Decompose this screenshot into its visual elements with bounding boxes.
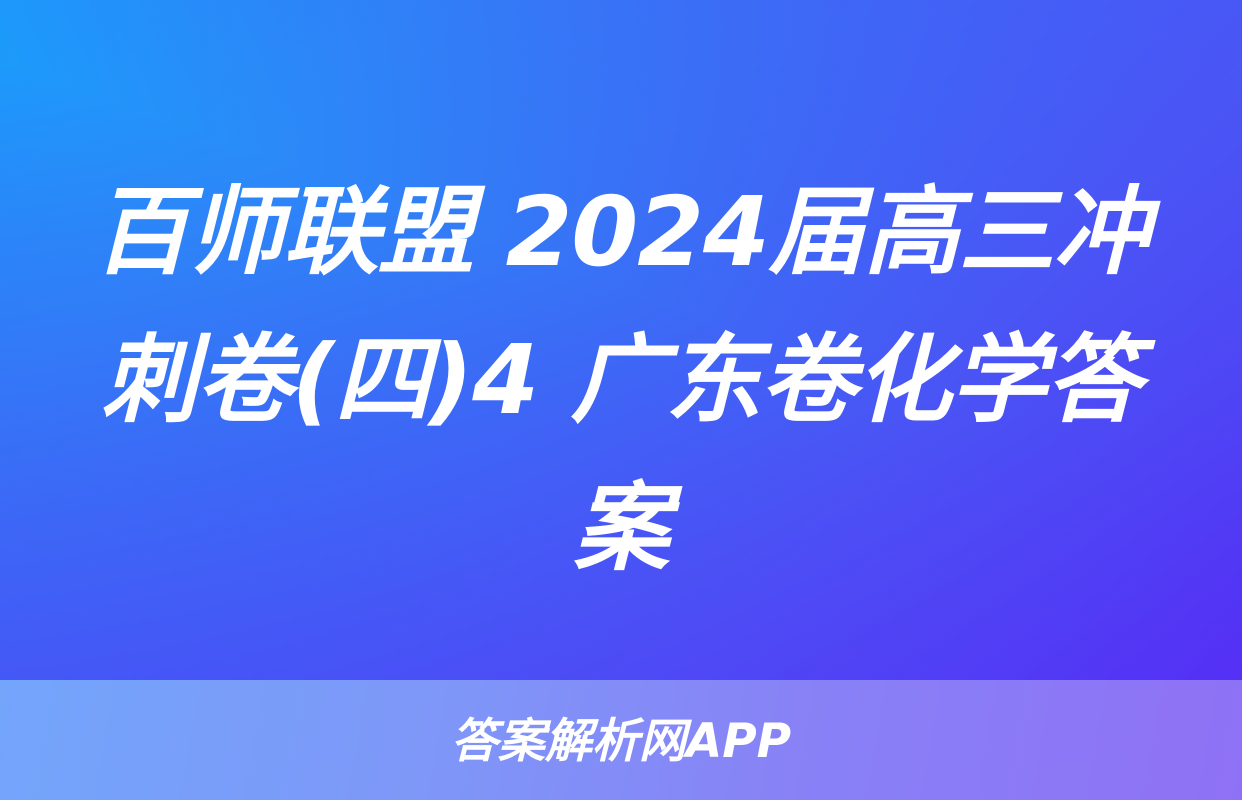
title-line-2: 刺卷(四)4 广东卷化学答 xyxy=(56,306,1186,454)
title-line-1: 百师联盟 2024届高三冲 xyxy=(56,158,1186,306)
watermark-label: 答案解析网APP xyxy=(451,718,791,765)
title-line-3: 案 xyxy=(56,454,1186,602)
footer-watermark-band: 答案解析网APP xyxy=(0,680,1242,800)
poster-title: 百师联盟 2024届高三冲 刺卷(四)4 广东卷化学答 案 xyxy=(0,158,1242,602)
poster-root: 百师联盟 2024届高三冲 刺卷(四)4 广东卷化学答 案 答案解析网APP xyxy=(0,0,1242,800)
